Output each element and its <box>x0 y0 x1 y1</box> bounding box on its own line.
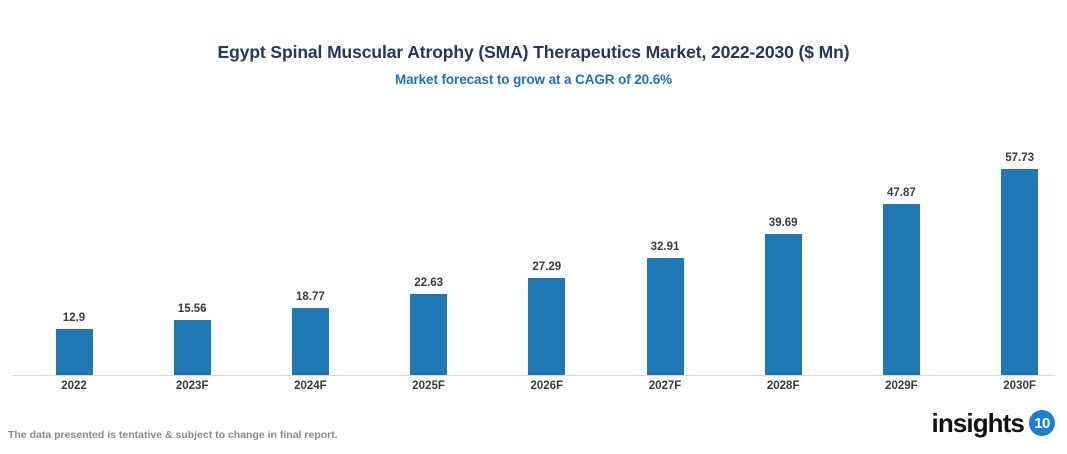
bar-rect[interactable] <box>292 308 329 375</box>
chart-canvas: Egypt Spinal Muscular Atrophy (SMA) Ther… <box>0 0 1067 454</box>
bar-group: 27.29 <box>489 110 605 375</box>
bar-rect[interactable] <box>528 278 565 375</box>
x-axis-tick-label: 2030F <box>962 380 1067 392</box>
bar-value-label: 32.91 <box>651 242 680 254</box>
x-axis-tick-label: 2028F <box>725 380 841 392</box>
chart-subtitle: Market forecast to grow at a CAGR of 20.… <box>0 72 1067 87</box>
bar-value-label: 27.29 <box>532 262 561 274</box>
logo-wordmark: insights <box>932 410 1024 436</box>
chart-title: Egypt Spinal Muscular Atrophy (SMA) Ther… <box>0 42 1067 63</box>
x-axis-line <box>12 375 1055 376</box>
bar-group: 22.63 <box>371 110 487 375</box>
bar-rect[interactable] <box>174 320 211 375</box>
x-axis-tick-label: 2024F <box>252 380 368 392</box>
bar-rect[interactable] <box>56 329 93 375</box>
bar-group: 47.87 <box>843 110 959 375</box>
bar-value-label: 15.56 <box>178 304 207 316</box>
x-axis-tick-label: 2022 <box>16 380 132 392</box>
x-axis-tick-label: 2025F <box>371 380 487 392</box>
bar-rect[interactable] <box>410 294 447 375</box>
bar-group: 57.73 <box>962 110 1067 375</box>
plot-area: 12.915.5618.7722.6327.2932.9139.6947.875… <box>12 110 1055 376</box>
insights10-logo: insights 10 <box>932 410 1055 436</box>
bar-value-label: 47.87 <box>887 188 916 200</box>
x-axis-tick-label: 2026F <box>489 380 605 392</box>
bar-rect[interactable] <box>883 204 920 375</box>
x-axis-labels: 20222023F2024F2025F2026F2027F2028F2029F2… <box>12 380 1055 398</box>
disclaimer-text: The data presented is tentative & subjec… <box>8 429 338 441</box>
bar-group: 15.56 <box>134 110 250 375</box>
x-axis-tick-label: 2023F <box>134 380 250 392</box>
bar-group: 32.91 <box>607 110 723 375</box>
bar-group: 12.9 <box>16 110 132 375</box>
bar-group: 39.69 <box>725 110 841 375</box>
bar-value-label: 18.77 <box>296 292 325 304</box>
bar-value-label: 22.63 <box>414 278 443 290</box>
bar-value-label: 12.9 <box>63 313 85 325</box>
bar-rect[interactable] <box>647 258 684 375</box>
x-axis-tick-label: 2029F <box>843 380 959 392</box>
x-axis-tick-label: 2027F <box>607 380 723 392</box>
bar-group: 18.77 <box>252 110 368 375</box>
bar-value-label: 39.69 <box>769 218 798 230</box>
logo-badge-icon: 10 <box>1029 410 1055 436</box>
bar-rect[interactable] <box>765 234 802 375</box>
bar-value-label: 57.73 <box>1005 153 1034 165</box>
bar-rect[interactable] <box>1001 169 1038 375</box>
